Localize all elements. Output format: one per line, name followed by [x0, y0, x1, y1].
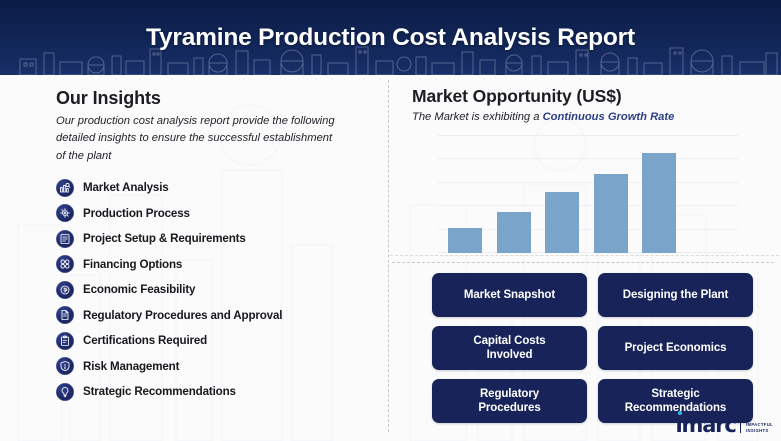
- insights-heading: Our Insights: [56, 88, 161, 109]
- button-market-snapshot[interactable]: Market Snapshot: [432, 273, 587, 317]
- logo-tagline: Impactful Insights: [746, 422, 773, 433]
- chart-bar: [642, 153, 676, 253]
- market-subtitle-plain: The Market is exhibiting a: [412, 111, 543, 123]
- button-designing-the-plant[interactable]: Designing the Plant: [598, 273, 753, 317]
- list-item-label: Production Process: [83, 207, 190, 220]
- chart-bar: [497, 212, 531, 253]
- market-opportunity-bar-chart: [438, 135, 738, 253]
- list-item[interactable]: Regulatory Procedures and Approval: [56, 303, 386, 329]
- list-item[interactable]: Strategic Recommendations: [56, 379, 386, 405]
- market-opportunity-panel: Market Opportunity (US$) The Market is e…: [388, 75, 781, 441]
- risk-management-icon: [56, 357, 74, 375]
- certifications-icon: [56, 332, 74, 350]
- production-process-icon: [56, 204, 74, 222]
- economic-feasibility-icon: [56, 281, 74, 299]
- button-label: RegulatoryProcedures: [478, 387, 540, 415]
- list-item-label: Risk Management: [83, 360, 179, 373]
- list-item[interactable]: Certifications Required: [56, 328, 386, 354]
- list-item[interactable]: Financing Options: [56, 252, 386, 278]
- regulatory-procedures-icon: [56, 306, 74, 324]
- logo-wordmark-group: imarc: [676, 415, 736, 435]
- report-sections-grid: Market Snapshot Designing the Plant Capi…: [432, 273, 742, 423]
- list-item-label: Certifications Required: [83, 334, 207, 347]
- insights-list: Market Analysis Production Process P: [56, 175, 386, 405]
- button-regulatory-procedures[interactable]: RegulatoryProcedures: [432, 379, 587, 423]
- chart-baseline-divider: [390, 255, 779, 256]
- button-label: Designing the Plant: [623, 288, 728, 302]
- project-setup-icon: [56, 230, 74, 248]
- market-analysis-icon: [56, 179, 74, 197]
- chart-bar: [594, 174, 628, 253]
- list-item-label: Project Setup & Requirements: [83, 232, 246, 245]
- button-project-economics[interactable]: Project Economics: [598, 326, 753, 370]
- list-item-label: Market Analysis: [83, 181, 169, 194]
- insights-panel: Our Insights Our production cost analysi…: [0, 75, 388, 441]
- list-item[interactable]: Risk Management: [56, 354, 386, 380]
- logo-wordmark: imarc: [676, 415, 736, 435]
- list-item-label: Financing Options: [83, 258, 182, 271]
- button-label: Capital CostsInvolved: [473, 334, 545, 362]
- logo-divider: [740, 417, 741, 433]
- list-item[interactable]: Project Setup & Requirements: [56, 226, 386, 252]
- list-item-label: Regulatory Procedures and Approval: [83, 309, 282, 322]
- market-heading: Market Opportunity (US$): [412, 86, 622, 107]
- button-label: Project Economics: [625, 341, 727, 355]
- page-title: Tyramine Production Cost Analysis Report: [0, 0, 781, 75]
- chart-bars: [448, 135, 728, 253]
- list-item[interactable]: Market Analysis: [56, 175, 386, 201]
- insights-subtitle: Our production cost analysis report prov…: [56, 113, 336, 165]
- logo-dot-icon: [678, 411, 682, 415]
- chart-bar: [448, 228, 482, 253]
- logo-tagline-line2: Insights: [746, 428, 773, 433]
- list-item-label: Strategic Recommendations: [83, 385, 236, 398]
- list-item[interactable]: Production Process: [56, 201, 386, 227]
- button-label: Market Snapshot: [464, 288, 555, 302]
- market-subtitle-accent: Continuous Growth Rate: [543, 111, 675, 123]
- page-header: Tyramine Production Cost Analysis Report: [0, 0, 781, 75]
- button-label: StrategicRecommendations: [625, 387, 726, 415]
- financing-options-icon: [56, 255, 74, 273]
- strategic-recommendations-icon: [56, 383, 74, 401]
- button-capital-costs-involved[interactable]: Capital CostsInvolved: [432, 326, 587, 370]
- chart-bar: [545, 192, 579, 253]
- list-item-label: Economic Feasibility: [83, 283, 195, 296]
- list-item[interactable]: Economic Feasibility: [56, 277, 386, 303]
- imarc-logo: imarc Impactful Insights: [676, 415, 773, 435]
- market-subtitle: The Market is exhibiting a Continuous Gr…: [412, 111, 674, 123]
